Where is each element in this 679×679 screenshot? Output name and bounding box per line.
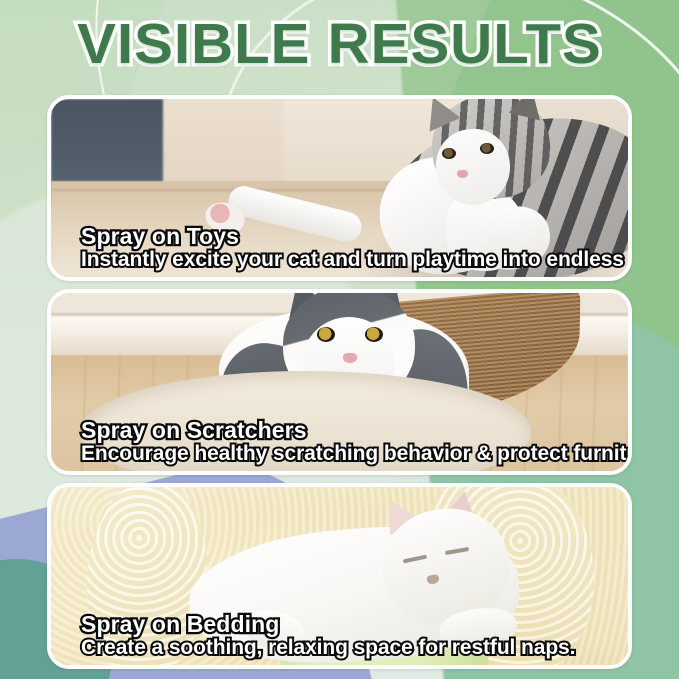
photo2-cat-eye-right [365, 327, 383, 342]
product-infographic-poster: VISIBLE RESULTS [0, 0, 679, 679]
caption-spray-on-scratchers: Spray on Scratchers Encourage healthy sc… [81, 419, 632, 465]
caption-subtext: Create a soothing, relaxing space for re… [81, 637, 575, 659]
poster-title: VISIBLE RESULTS [0, 13, 679, 75]
caption-heading: Spray on Scratchers [81, 419, 632, 443]
panel-spray-on-toys: Spray on Toys Instantly excite your cat … [47, 95, 632, 281]
caption-heading: Spray on Bedding [81, 613, 575, 637]
caption-heading: Spray on Toys [81, 225, 632, 249]
panel-spray-on-bedding: Spray on Bedding Create a soothing, rela… [47, 483, 632, 669]
photo1-cat-eye-left [442, 148, 456, 159]
photo1-cat-eye-right [480, 143, 494, 154]
photo1-cat-nose [457, 170, 468, 178]
photo2-cat-eye-left [317, 327, 335, 342]
panel-spray-on-scratchers: Spray on Scratchers Encourage healthy sc… [47, 289, 632, 475]
panel-list: Spray on Toys Instantly excite your cat … [47, 95, 632, 677]
caption-subtext: Encourage healthy scratching behavior & … [81, 443, 632, 465]
photo2-cat-nose [343, 353, 357, 363]
caption-spray-on-bedding: Spray on Bedding Create a soothing, rela… [81, 613, 575, 659]
caption-subtext: Instantly excite your cat and turn playt… [81, 249, 632, 271]
caption-spray-on-toys: Spray on Toys Instantly excite your cat … [81, 225, 632, 271]
